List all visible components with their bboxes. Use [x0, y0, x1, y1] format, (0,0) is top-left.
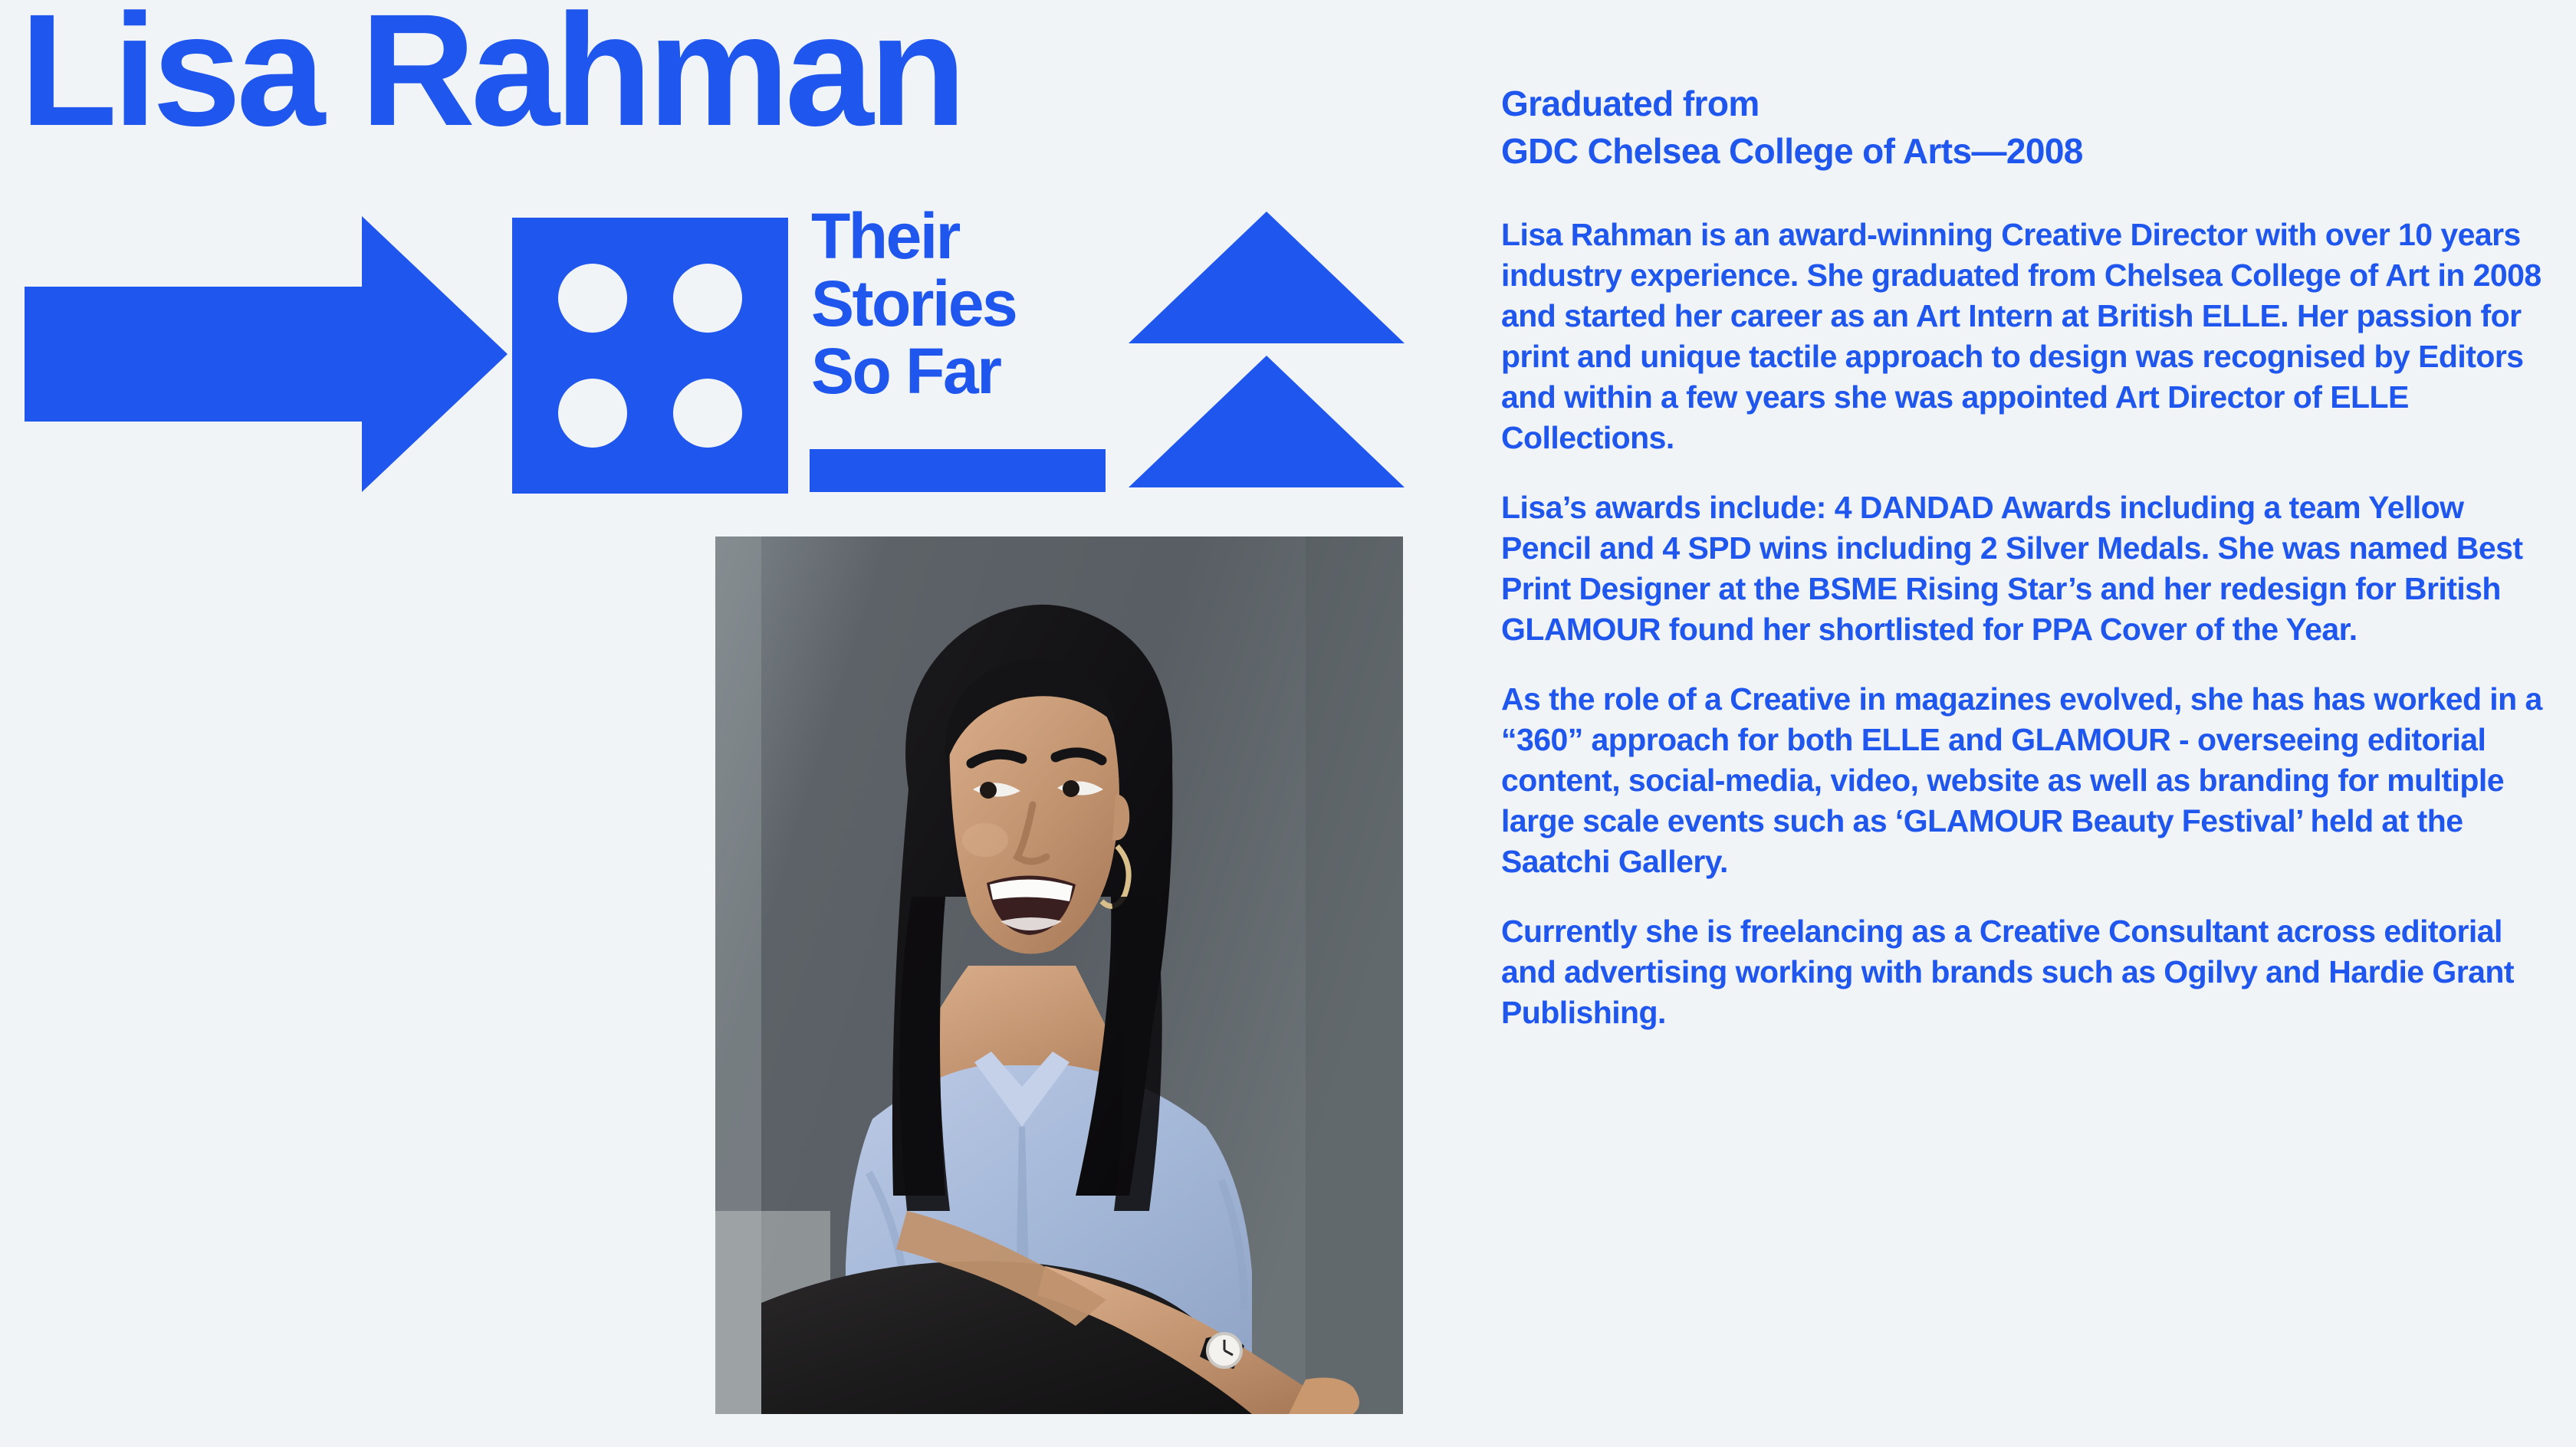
bio-paragraph-1: Lisa Rahman is an award-winning Creative… [1501, 215, 2551, 458]
double-up-triangle-icon [1129, 212, 1428, 492]
graduation-block: Graduated from GDC Chelsea College of Ar… [1501, 80, 2551, 175]
profile-text-column: Graduated from GDC Chelsea College of Ar… [1501, 80, 2551, 1033]
bio-paragraph-3: As the role of a Creative in magazines e… [1501, 679, 2551, 882]
profile-page: Lisa Rahman Their Stories So Far [0, 0, 2576, 1447]
page-title: Lisa Rahman [20, 0, 962, 150]
wordmark-underline-bar [810, 449, 1106, 492]
wordmark-line-1: Their [811, 202, 1016, 270]
wordmark-line-2: Stories [811, 270, 1016, 337]
portrait-photo-image [715, 536, 1403, 1414]
portrait-photo [715, 536, 1403, 1414]
bio-paragraph-4: Currently she is freelancing as a Creati… [1501, 911, 2551, 1033]
dot-bottom-right [673, 379, 742, 448]
triangle-upper [1129, 212, 1405, 343]
dot-top-right [673, 264, 742, 333]
wordmark: Their Stories So Far [811, 202, 1016, 405]
triangle-lower [1129, 356, 1405, 487]
right-arrow-shape [25, 216, 508, 492]
four-dot-square-icon [512, 218, 788, 494]
dot-bottom-left [558, 379, 627, 448]
bio-paragraph-2: Lisa’s awards include: 4 DANDAD Awards i… [1501, 487, 2551, 650]
right-arrow-icon [25, 216, 508, 492]
graduated-label: Graduated from [1501, 80, 2551, 127]
graduated-value: GDC Chelsea College of Arts—2008 [1501, 127, 2551, 175]
dot-top-left [558, 264, 627, 333]
wordmark-line-3: So Far [811, 337, 1016, 405]
